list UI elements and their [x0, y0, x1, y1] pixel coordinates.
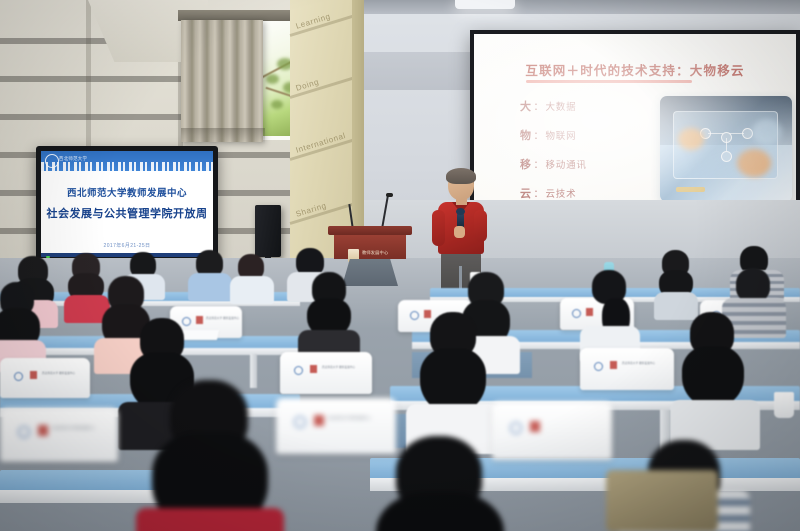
bullet-1-value: 大数据 [546, 99, 577, 113]
chair-cover-logo-text: 西北师范大学 教师发展中心 [622, 362, 655, 366]
tv-date-text: 2017年6月21-25日 [41, 242, 213, 249]
bullet-1-sep: ： [534, 98, 544, 113]
chair-cover [492, 402, 612, 460]
bullet-3-key: 移 [520, 156, 532, 172]
slide-bullet-3: 移 ： 移动通讯 [520, 156, 660, 172]
loudspeaker [255, 205, 281, 257]
window-curtain[interactable] [181, 20, 263, 142]
backpack [606, 470, 718, 531]
tv-banner: 西北师范大学 [41, 151, 213, 171]
skyline-graphic [41, 162, 213, 171]
ceiling-light [455, 0, 515, 9]
chair-cover: 西北师范大学 教师发展中心 [580, 348, 674, 390]
bullet-4-value: 云技术 [546, 186, 577, 200]
chair-cover-logo-text: 西北师范大学 教师发展中心 [322, 366, 355, 370]
bullet-2-value: 物联网 [546, 128, 577, 142]
slide-bullet-1: 大 ： 大数据 [520, 98, 660, 114]
bullet-4-sep: ： [534, 185, 544, 200]
chair-cover-logo-text: 西北师范大学 教师发展中心 [52, 426, 95, 431]
slide-title-underline [526, 80, 692, 83]
bullet-1-key: 大 [520, 98, 532, 114]
tv-title-line-1: 西北师范大学教师发展中心 [41, 185, 213, 199]
microphone-icon [386, 193, 393, 197]
slide-title: 互联网＋时代的技术支持：大物移云 [474, 60, 796, 79]
ceiling-band [300, 0, 800, 14]
lecture-hall-photo: Learning Doing International Sharing 西北师… [0, 0, 800, 531]
slide-tablet-image [660, 96, 792, 202]
chair-cover: 西北师范大学 教师发展中心 [0, 358, 90, 398]
bullet-4-key: 云 [520, 185, 532, 201]
bullet-3-sep: ： [534, 156, 544, 171]
chair-cover-logo-text: 西北师范大学 教师发展中心 [42, 372, 75, 376]
bullet-2-key: 物 [520, 127, 532, 143]
chair-cover: 西北师范大学 教师发展中心 [0, 408, 118, 462]
chair-cover: 西北师范大学 教师发展中心 [276, 398, 396, 454]
tv-bottom-bar [41, 253, 213, 257]
lectern-label: 教师发展中心 [362, 250, 388, 256]
paper-cup [774, 392, 794, 418]
wall-tv-display[interactable]: 西北师范大学 西北师范大学教师发展中心 社会发展与公共管理学院开放周 2017年… [36, 146, 218, 262]
slide-bullet-list: 大 ： 大数据 物 ： 物联网 移 ： 移动通讯 云 ： 云技术 [520, 98, 660, 214]
slide-bullet-4: 云 ： 云技术 [520, 185, 660, 201]
tv-screen: 西北师范大学 西北师范大学教师发展中心 社会发展与公共管理学院开放周 2017年… [41, 151, 213, 257]
curtain-shadow [181, 128, 265, 144]
chair-cover-logo-text: 西北师范大学 教师发展中心 [328, 416, 371, 421]
bullet-3-value: 移动通讯 [546, 157, 587, 171]
tv-title-line-2: 社会发展与公共管理学院开放周 [41, 205, 213, 221]
handout-paper [179, 330, 219, 340]
bullet-2-sep: ： [534, 127, 544, 142]
slide-bullet-2: 物 ： 物联网 [520, 127, 660, 143]
chair-cover-logo-text: 西北师范大学 教师发展中心 [206, 317, 239, 321]
chair-cover: 西北师范大学 教师发展中心 [280, 352, 372, 394]
